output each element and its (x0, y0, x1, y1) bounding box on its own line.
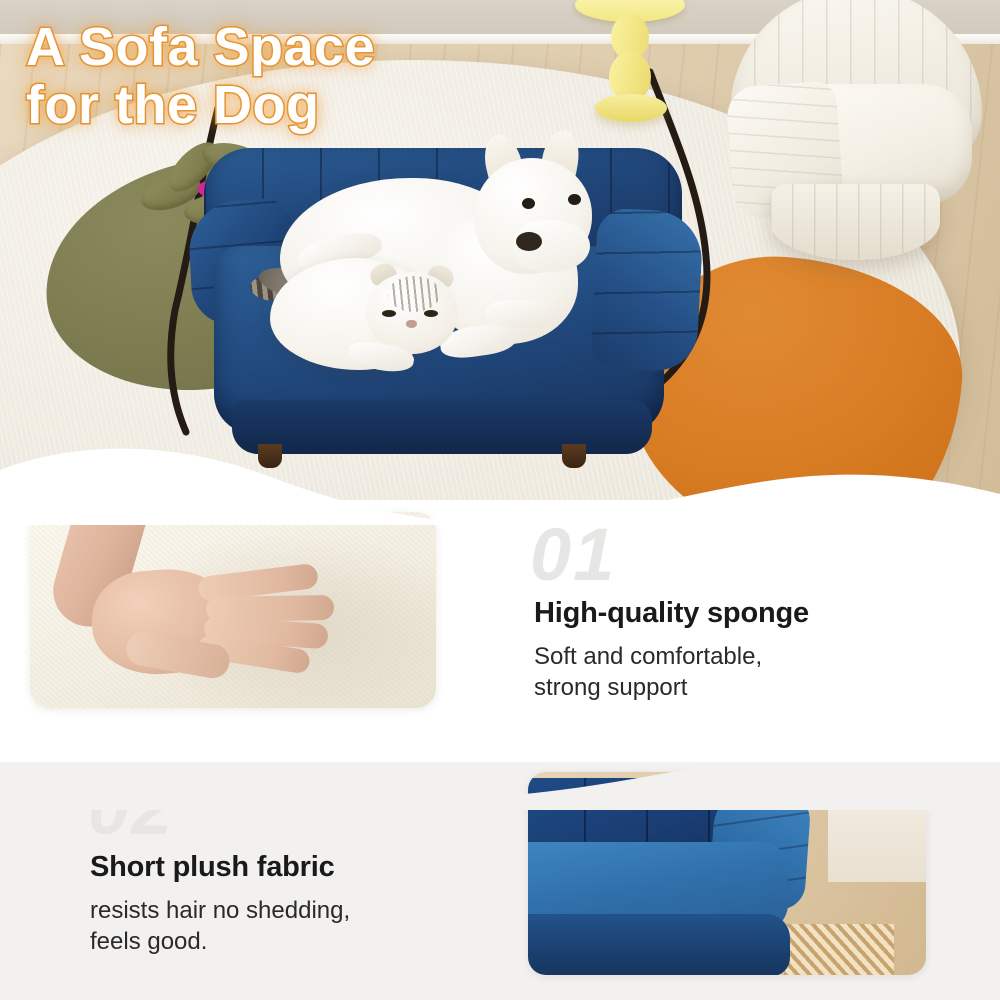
sofa-base-skirt (528, 914, 790, 975)
dog-eye (568, 194, 581, 205)
table-base (595, 94, 667, 122)
hero-title: A Sofa Space for the Dog (26, 18, 375, 135)
wave-divider-top (0, 430, 1000, 525)
feature-body-02: resists hair no shedding, feels good. (90, 896, 350, 957)
feature-body-01: Soft and comfortable, strong support (534, 642, 762, 703)
cat-eye (424, 310, 438, 317)
foam-sponge-photo (30, 512, 436, 708)
product-marketing-image: A Sofa Space for the Dog 01 High-quality… (0, 0, 1000, 1000)
cat-eye (382, 310, 396, 317)
white-cat (270, 248, 480, 388)
yellow-pedestal-table (575, 0, 685, 148)
feature-section-01: 01 High-quality sponge Soft and comforta… (0, 500, 1000, 762)
cat-nose (406, 320, 417, 328)
feature-title-01: High-quality sponge (534, 598, 809, 630)
chair-swivel-base (770, 184, 940, 260)
cat-tabby-markings (388, 276, 440, 312)
sofa-photo-woven-rug (784, 924, 894, 975)
feature-title-02: Short plush fabric (90, 852, 335, 884)
dog-eye (522, 198, 535, 209)
dog-nose (516, 232, 542, 251)
cream-barrel-chair (722, 0, 990, 256)
feature-number-01: 01 (530, 518, 616, 592)
